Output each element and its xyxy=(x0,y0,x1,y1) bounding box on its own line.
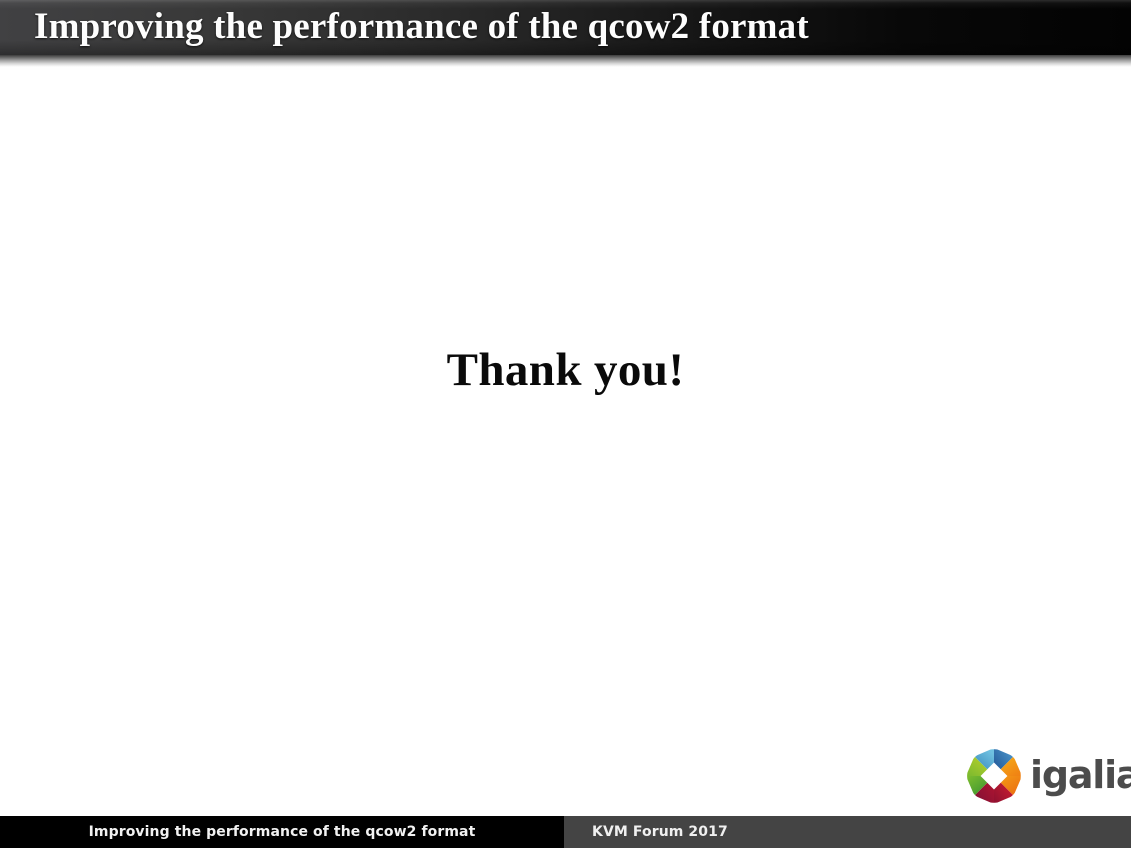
slide-content-area: Thank you! xyxy=(0,67,1131,814)
footer-event-name: KVM Forum 2017 xyxy=(592,816,728,848)
igalia-pinwheel-icon xyxy=(966,748,1022,804)
footer-presentation-title: Improving the performance of the qcow2 f… xyxy=(0,816,564,848)
igalia-wordmark: igalia xyxy=(1030,756,1131,796)
slide-header-bar: Improving the performance of the qcow2 f… xyxy=(0,0,1131,55)
header-shadow-gradient xyxy=(0,55,1131,67)
thank-you-text: Thank you! xyxy=(0,343,1131,397)
page-title: Improving the performance of the qcow2 f… xyxy=(34,2,1104,52)
presentation-slide: Improving the performance of the qcow2 f… xyxy=(0,0,1131,848)
slide-footer-bar: Improving the performance of the qcow2 f… xyxy=(0,816,1131,848)
igalia-logo: igalia xyxy=(966,745,1126,807)
